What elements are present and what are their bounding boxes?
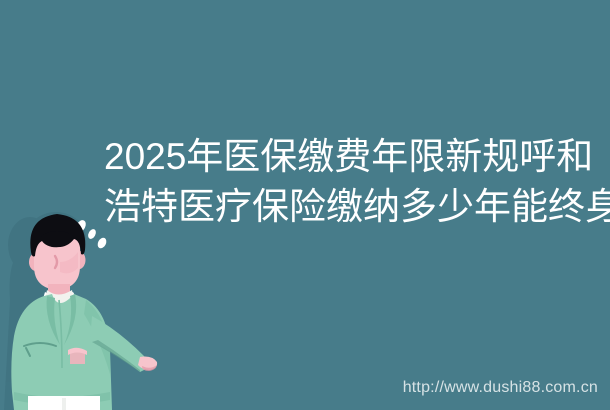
shirt bbox=[42, 292, 79, 352]
jacket-pocket-flap bbox=[68, 348, 87, 355]
shirt-collar bbox=[45, 290, 74, 305]
trousers bbox=[28, 396, 100, 410]
jacket-lapel-left bbox=[47, 296, 60, 345]
face-shading bbox=[60, 252, 78, 273]
hair bbox=[30, 214, 85, 257]
hair-fringe bbox=[40, 231, 75, 247]
image-canvas: 2025年医保缴费年限新规呼和 浩特医疗保险缴纳多少年能终身享 http://w… bbox=[0, 0, 610, 410]
nose bbox=[55, 256, 57, 268]
ears bbox=[29, 251, 86, 272]
hand-shading bbox=[142, 365, 157, 371]
figure-shadow bbox=[4, 212, 86, 410]
page-title: 2025年医保缴费年限新规呼和 浩特医疗保险缴纳多少年能终身享 bbox=[104, 132, 610, 232]
trousers-gap bbox=[62, 398, 66, 410]
jacket-body bbox=[11, 294, 112, 410]
thought-dots-icon bbox=[74, 219, 108, 250]
jacket-shading bbox=[84, 300, 110, 374]
neck bbox=[48, 284, 70, 302]
jacket-hem bbox=[14, 392, 110, 405]
face bbox=[34, 222, 80, 290]
hand bbox=[138, 357, 157, 370]
jacket-lapel-right bbox=[64, 294, 76, 345]
page-title-line-1: 2025年医保缴费年限新规呼和 bbox=[104, 132, 610, 182]
jacket-side-pocket-edge bbox=[26, 348, 30, 356]
watermark-url: http://www.dushi88.com.cn bbox=[403, 378, 598, 398]
jacket-pocket bbox=[70, 352, 85, 364]
jacket-sleeve-shading bbox=[92, 340, 140, 372]
page-title-line-2: 浩特医疗保险缴纳多少年能终身享 bbox=[104, 182, 610, 232]
jacket-sleeve-arm bbox=[90, 316, 152, 372]
jacket-side-pocket bbox=[24, 343, 56, 346]
jacket-placket bbox=[59, 300, 62, 368]
